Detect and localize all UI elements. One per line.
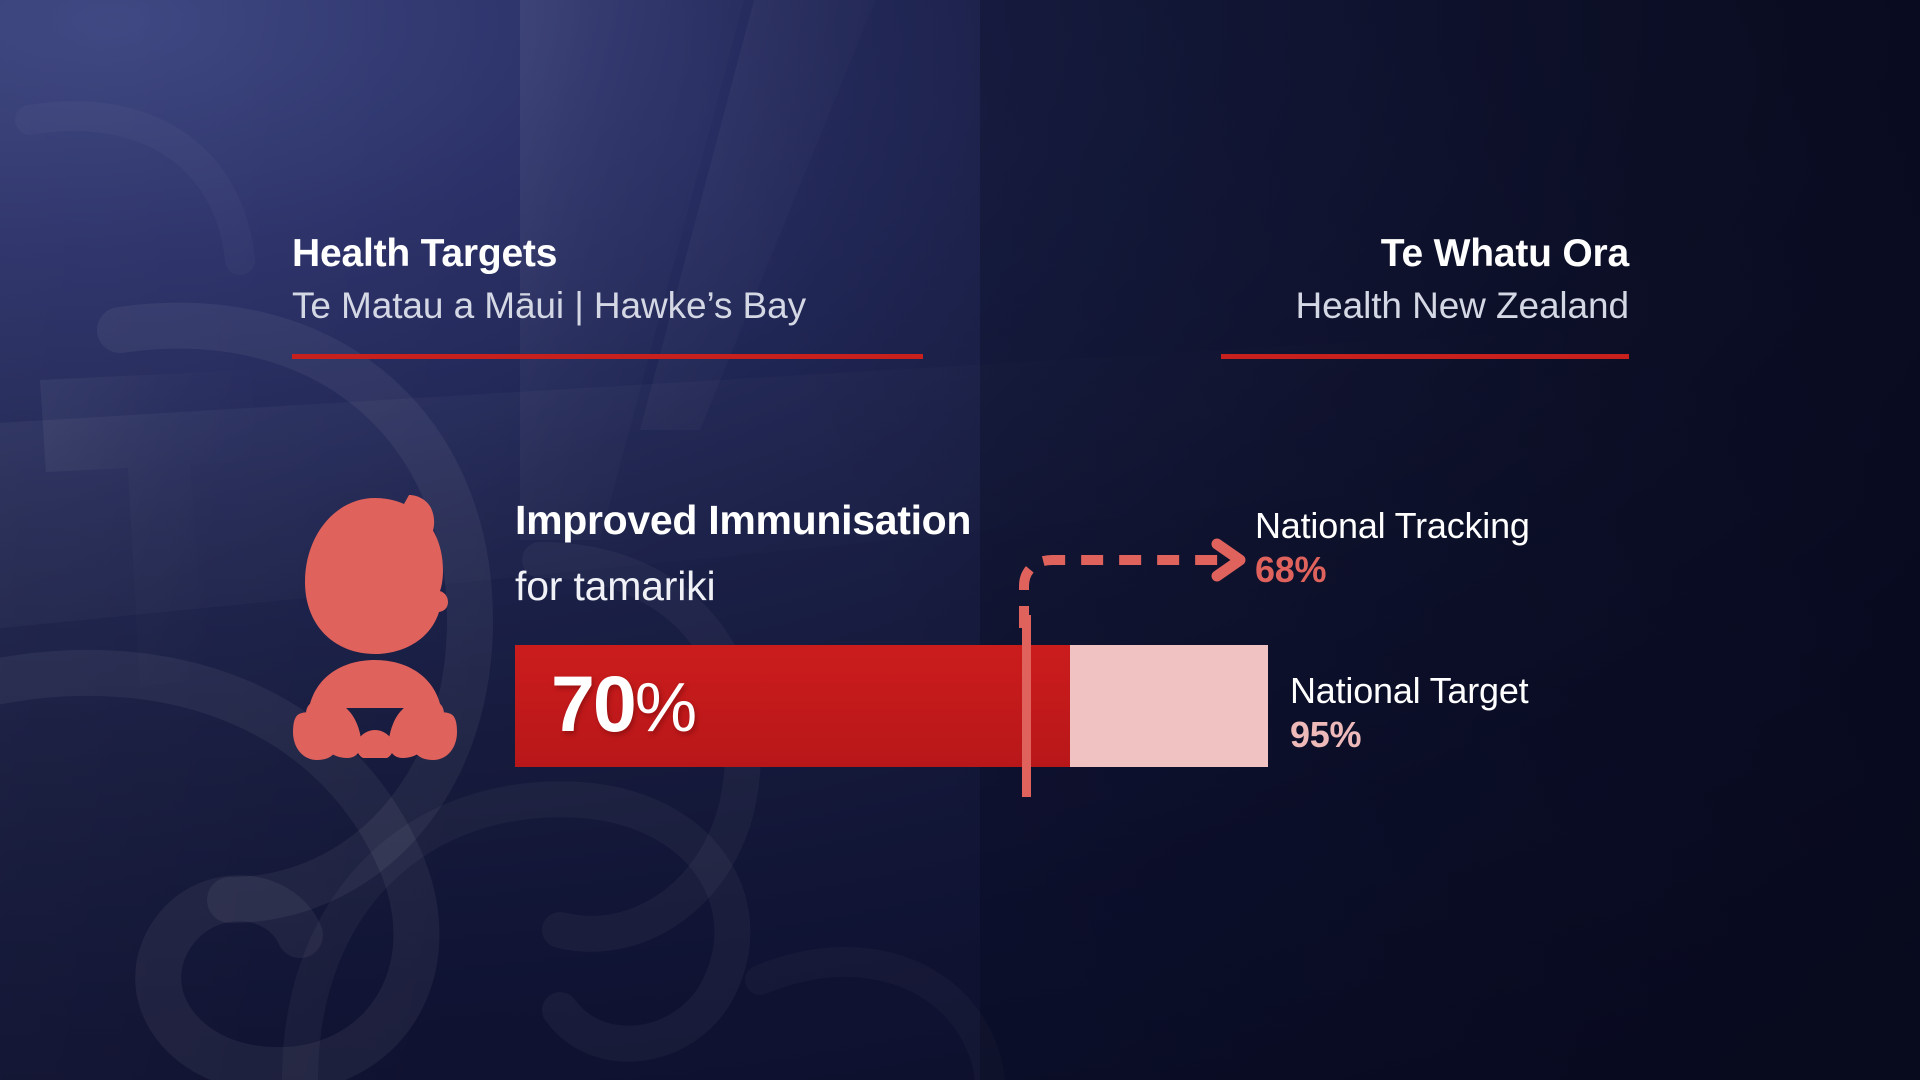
header-right-rule [1221, 354, 1629, 359]
national-target-value: 95% [1290, 714, 1529, 756]
baby-icon [291, 492, 459, 762]
progress-bar-value: 70% [551, 658, 696, 750]
header-left-block: Health Targets Te Matau a Māui | Hawke’s… [292, 232, 932, 359]
tracking-callout-arrow [1018, 540, 1260, 632]
national-target-label: National Target [1290, 671, 1529, 711]
national-target-label-block: National Target 95% [1290, 671, 1529, 757]
infographic-slide: Health Targets Te Matau a Māui | Hawke’s… [0, 0, 1920, 1080]
national-tracking-label-block: National Tracking 68% [1255, 506, 1530, 592]
metric-subtitle: for tamariki [515, 563, 715, 610]
national-tracking-marker-line [1022, 615, 1031, 797]
national-tracking-label: National Tracking [1255, 506, 1530, 546]
organisation-title: Te Whatu Ora [989, 232, 1629, 276]
page-title: Health Targets [292, 232, 932, 276]
organisation-subtitle: Health New Zealand [989, 282, 1629, 330]
header-right-block: Te Whatu Ora Health New Zealand [989, 232, 1629, 359]
header-left-rule [292, 354, 923, 359]
progress-value-percent: % [635, 668, 696, 746]
national-tracking-value: 68% [1255, 549, 1530, 591]
district-subtitle: Te Matau a Māui | Hawke’s Bay [292, 282, 932, 330]
progress-value-number: 70 [551, 659, 635, 748]
metric-title: Improved Immunisation [515, 497, 971, 544]
progress-bar: 70% [515, 645, 1268, 767]
